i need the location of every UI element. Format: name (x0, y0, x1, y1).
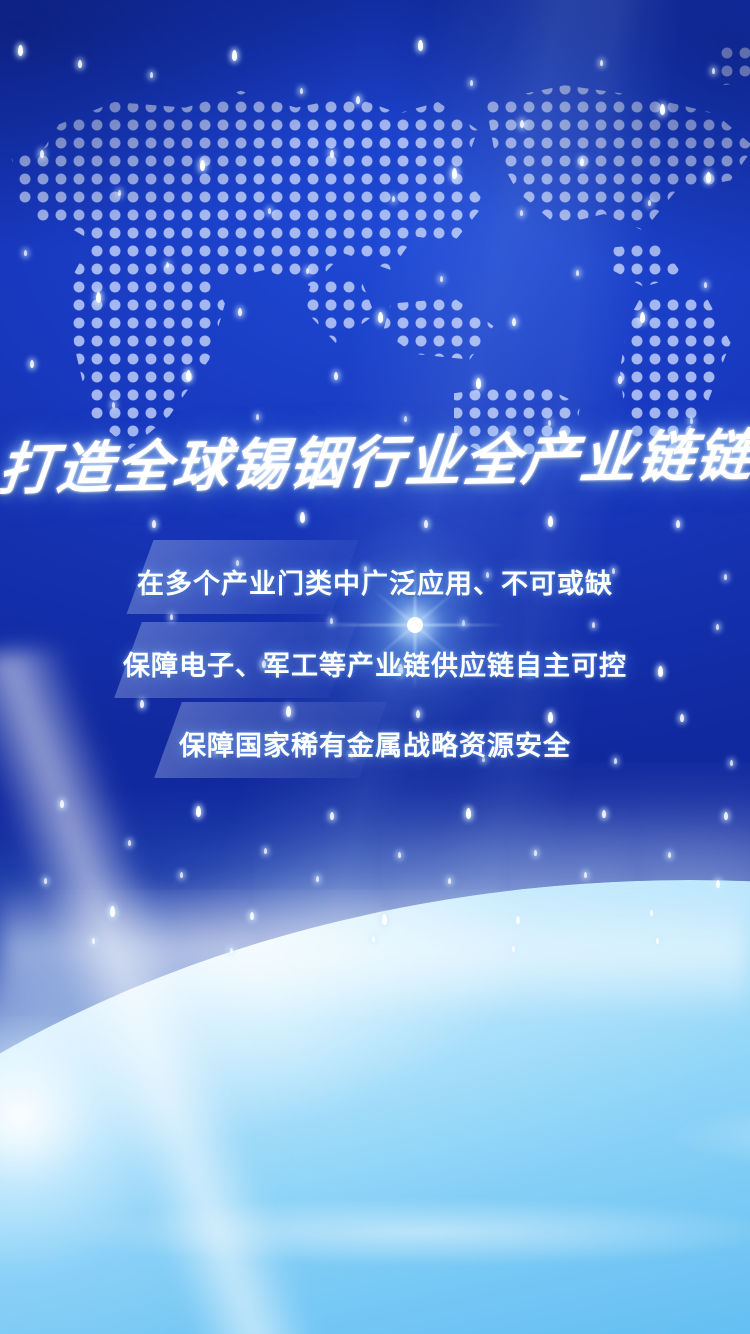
sparkle-particle-icon (592, 622, 595, 628)
sparkle-particle-icon (118, 190, 121, 196)
sparkle-particle-icon (398, 852, 401, 858)
sparkle-particle-icon (534, 850, 537, 856)
sparkle-particle-icon (316, 876, 319, 882)
sparkle-particle-icon (476, 378, 481, 389)
sparkle-particle-icon (110, 906, 115, 917)
sparkle-particle-icon (78, 60, 82, 68)
subtitle-line-1: 在多个产业门类中广泛应用、不可或缺 (0, 562, 750, 601)
sparkle-particle-icon (356, 96, 360, 104)
sparkle-particle-icon (580, 158, 584, 166)
sparkle-particle-icon (602, 810, 606, 818)
sparkle-particle-icon (512, 318, 516, 326)
sparkle-particle-icon (392, 196, 395, 202)
sparkle-particle-icon (200, 160, 205, 171)
sparkle-particle-icon (584, 872, 587, 878)
sparkle-particle-icon (140, 700, 144, 708)
sparkle-particle-icon (300, 88, 303, 94)
sparkle-particle-icon (618, 376, 622, 384)
sparkle-particle-icon (548, 516, 553, 527)
sparkle-particle-icon (330, 150, 334, 158)
sparkle-particle-icon (512, 946, 515, 952)
sparkle-particle-icon (548, 712, 553, 723)
sparkle-particle-icon (520, 120, 524, 128)
sparkle-particle-icon (128, 840, 131, 846)
sparkle-particle-icon (256, 414, 259, 420)
sparkle-particle-icon (716, 624, 719, 630)
sparkle-particle-icon (152, 520, 156, 528)
sparkle-particle-icon (660, 104, 665, 115)
sparkle-particle-icon (382, 914, 387, 925)
page-title: 打造全球锡铟行业全产业链链主 (0, 411, 750, 506)
sparkle-particle-icon (650, 910, 653, 916)
sparkle-particle-icon (286, 706, 291, 717)
sparkle-particle-icon (648, 200, 651, 206)
sparkle-particle-icon (712, 68, 715, 74)
sparkle-particle-icon (180, 872, 183, 878)
sparkle-particle-icon (640, 312, 645, 323)
sparkle-particle-icon (264, 848, 267, 854)
sparkle-particle-icon (24, 250, 27, 256)
sparkle-particle-icon (30, 360, 34, 368)
sparkle-particle-icon (656, 938, 659, 944)
sparkle-particle-icon (716, 880, 720, 888)
sparkle-particle-icon (268, 208, 271, 214)
sparkle-particle-icon (186, 370, 191, 381)
subtitle-line-2: 保障电子、军工等产业链供应链自主可控 (0, 644, 750, 683)
sparkle-particle-icon (676, 520, 680, 528)
sparkle-particle-icon (60, 800, 64, 808)
sparkle-particle-icon (576, 270, 579, 276)
sparkle-particle-icon (170, 614, 173, 620)
sparkle-particle-icon (448, 878, 451, 884)
sparkle-particle-icon (724, 812, 728, 820)
sparkle-particle-icon (334, 372, 338, 380)
sparkle-particle-icon (418, 40, 423, 51)
sparkle-particle-icon (706, 172, 711, 183)
sparkle-particle-icon (18, 45, 23, 56)
sparkle-particle-icon (378, 312, 383, 323)
sparkle-particle-icon (516, 916, 520, 924)
sparkle-particle-icon (232, 50, 237, 61)
sparkle-particle-icon (440, 276, 443, 282)
sparkle-particle-icon (372, 936, 375, 942)
sparkle-particle-icon (306, 268, 309, 274)
sparkle-particle-icon (44, 878, 47, 884)
sparkle-particle-icon (466, 808, 471, 819)
sparkle-particle-icon (452, 168, 457, 179)
sparkle-particle-icon (112, 402, 115, 408)
sparkle-particle-icon (96, 292, 101, 303)
sparkle-particle-icon (600, 60, 603, 66)
sparkle-particle-icon (250, 912, 254, 920)
sparkle-particle-icon (520, 210, 523, 216)
sparkle-particle-icon (330, 812, 334, 820)
sparkle-particle-icon (668, 852, 671, 858)
sparkle-particle-icon (704, 282, 707, 288)
sparkle-particle-icon (230, 948, 233, 954)
sparkle-particle-icon (150, 72, 153, 78)
sparkle-particle-icon (300, 512, 305, 523)
sparkle-particle-icon (470, 80, 473, 86)
subtitle-line-3: 保障国家稀有金属战略资源安全 (0, 724, 750, 763)
flare-halo (305, 515, 525, 735)
sparkle-particle-icon (196, 806, 201, 817)
sparkle-particle-icon (166, 262, 169, 268)
sparkle-particle-icon (680, 714, 684, 722)
poster-canvas: 打造全球锡铟行业全产业链链主 在多个产业门类中广泛应用、不可或缺 保障电子、军工… (0, 0, 750, 1334)
sparkle-particle-icon (40, 150, 44, 158)
sparkle-particle-icon (92, 938, 95, 944)
sparkle-particle-icon (238, 308, 242, 316)
